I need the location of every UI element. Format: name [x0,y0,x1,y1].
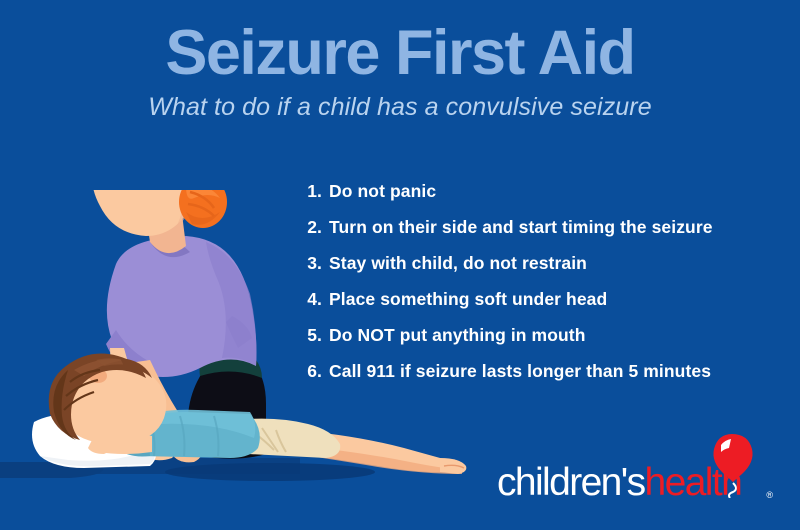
page-title: Seizure First Aid [0,22,800,85]
childrens-health-logo[interactable]: children'shealth ® [497,432,777,510]
seizure-first-aid-illustration [0,190,500,530]
header: Seizure First Aid What to do if a child … [0,22,800,122]
page-subtitle: What to do if a child has a convulsive s… [0,93,800,122]
registered-trademark-mark: ® [766,491,773,500]
logo-text-childrens: children's [497,461,645,504]
logo-text-health: health [645,461,742,504]
logo-wordmark: children'shealth [497,463,741,502]
seizure-first-aid-poster: Seizure First Aid What to do if a child … [0,0,800,530]
